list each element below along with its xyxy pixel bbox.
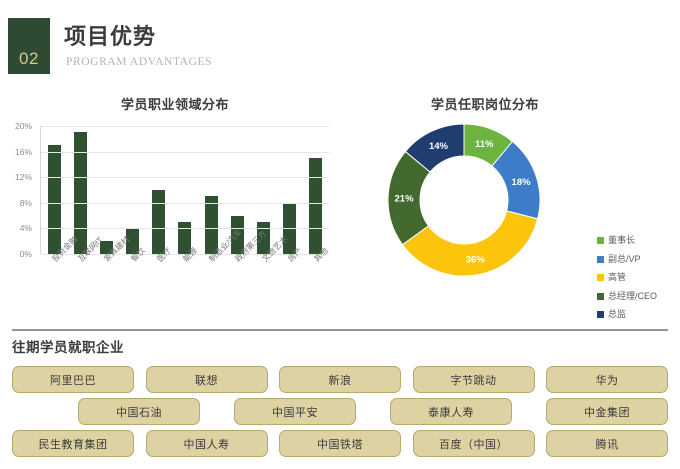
company-tag[interactable]: 字节跳动 <box>413 366 535 393</box>
legend-swatch-icon <box>597 311 604 318</box>
company-tag-row-inner: 阿里巴巴联想新浪字节跳动华为 <box>12 366 668 393</box>
bar-chart-plot-area <box>40 126 329 254</box>
gridline <box>41 152 329 153</box>
company-tag[interactable]: 民生教育集团 <box>12 430 134 457</box>
company-tag[interactable]: 腾讯 <box>546 430 668 457</box>
bar <box>48 145 61 254</box>
gridline <box>41 177 329 178</box>
donut-slice-label: 36% <box>466 254 486 265</box>
company-tag-row-inner: 民生教育集团中国人寿中国铁塔百度（中国）腾讯 <box>12 430 668 457</box>
y-axis-tick-label: 4% <box>0 224 32 233</box>
company-tag[interactable]: 中国人寿 <box>146 430 268 457</box>
legend-item: 副总/VP <box>597 254 680 265</box>
donut-chart-svg: 11%18%36%21%14% <box>384 120 544 280</box>
company-tag[interactable]: 泰康人寿 <box>390 398 512 425</box>
bar-chart-x-axis: 投资金融互联网IT家具建材餐饮医疗能源制造业/汽车政府第三方文旅艺术房产其他 <box>40 256 328 312</box>
section-divider <box>12 329 668 331</box>
charts-area: 学员职业领域分布 0%4%8%12%16%20% 投资金融互联网IT家具建材餐饮… <box>0 92 680 320</box>
legend-item-label: 副总/VP <box>608 255 641 264</box>
company-tag[interactable]: 百度（中国） <box>413 430 535 457</box>
y-axis-tick-label: 16% <box>0 148 32 157</box>
company-tag[interactable]: 中国石油 <box>78 398 200 425</box>
section-number: 02 <box>19 50 39 67</box>
company-tag-row-inner: 中国石油中国平安泰康人寿中金集团 <box>78 398 668 425</box>
legend-swatch-icon <box>597 293 604 300</box>
legend-item: 总监 <box>597 309 680 320</box>
donut-chart-legend: 董事长副总/VP高管总经理/CEO总监 <box>597 235 680 328</box>
donut-chart-title: 学员任职岗位分布 <box>370 98 600 111</box>
donut-chart: 11%18%36%21%14% <box>384 120 544 280</box>
legend-item: 高管 <box>597 272 680 283</box>
company-tag-row: 中国石油中国平安泰康人寿中金集团 <box>78 398 668 425</box>
y-axis-tick-label: 12% <box>0 173 32 182</box>
section-number-badge: 02 <box>8 18 50 74</box>
company-tag[interactable]: 华为 <box>546 366 668 393</box>
bar <box>309 158 322 254</box>
y-axis-tick-label: 0% <box>0 250 32 259</box>
company-tag[interactable]: 中国铁塔 <box>279 430 401 457</box>
donut-slice-label: 14% <box>429 141 449 152</box>
legend-swatch-icon <box>597 274 604 281</box>
gridline <box>41 228 329 229</box>
legend-item: 总经理/CEO <box>597 291 680 302</box>
gridline <box>41 126 329 127</box>
bar-chart: 0%4%8%12%16%20% 投资金融互联网IT家具建材餐饮医疗能源制造业/汽… <box>4 122 334 312</box>
donut-slice-label: 21% <box>395 194 415 205</box>
legend-item-label: 总经理/CEO <box>608 292 657 301</box>
donut-slice-label: 18% <box>512 177 532 188</box>
legend-swatch-icon <box>597 237 604 244</box>
company-tag[interactable]: 中金集团 <box>546 398 668 425</box>
bar-chart-title: 学员职业领域分布 <box>30 98 320 111</box>
company-tag[interactable]: 联想 <box>146 366 268 393</box>
legend-item-label: 总监 <box>608 310 626 319</box>
legend-item: 董事长 <box>597 235 680 246</box>
company-tag-row: 民生教育集团中国人寿中国铁塔百度（中国）腾讯 <box>12 430 668 457</box>
company-tag-row: 阿里巴巴联想新浪字节跳动华为 <box>12 366 668 393</box>
y-axis-tick-label: 8% <box>0 199 32 208</box>
bar <box>152 190 165 254</box>
y-axis-tick-label: 20% <box>0 122 32 131</box>
legend-item-label: 高管 <box>608 273 626 282</box>
bar <box>205 196 218 254</box>
companies-section-title: 往期学员就职企业 <box>12 341 124 355</box>
page-subtitle: PROGRAM ADVANTAGES <box>66 57 212 69</box>
bar-series <box>41 126 329 254</box>
slide-header: 02 项目优势 PROGRAM ADVANTAGES <box>0 0 680 92</box>
company-tag[interactable]: 阿里巴巴 <box>12 366 134 393</box>
page-title: 项目优势 <box>64 26 156 48</box>
company-tag[interactable]: 新浪 <box>279 366 401 393</box>
gridline <box>41 203 329 204</box>
donut-slice-label: 11% <box>475 139 494 150</box>
legend-item-label: 董事长 <box>608 236 635 245</box>
legend-swatch-icon <box>597 256 604 263</box>
company-tag[interactable]: 中国平安 <box>234 398 356 425</box>
